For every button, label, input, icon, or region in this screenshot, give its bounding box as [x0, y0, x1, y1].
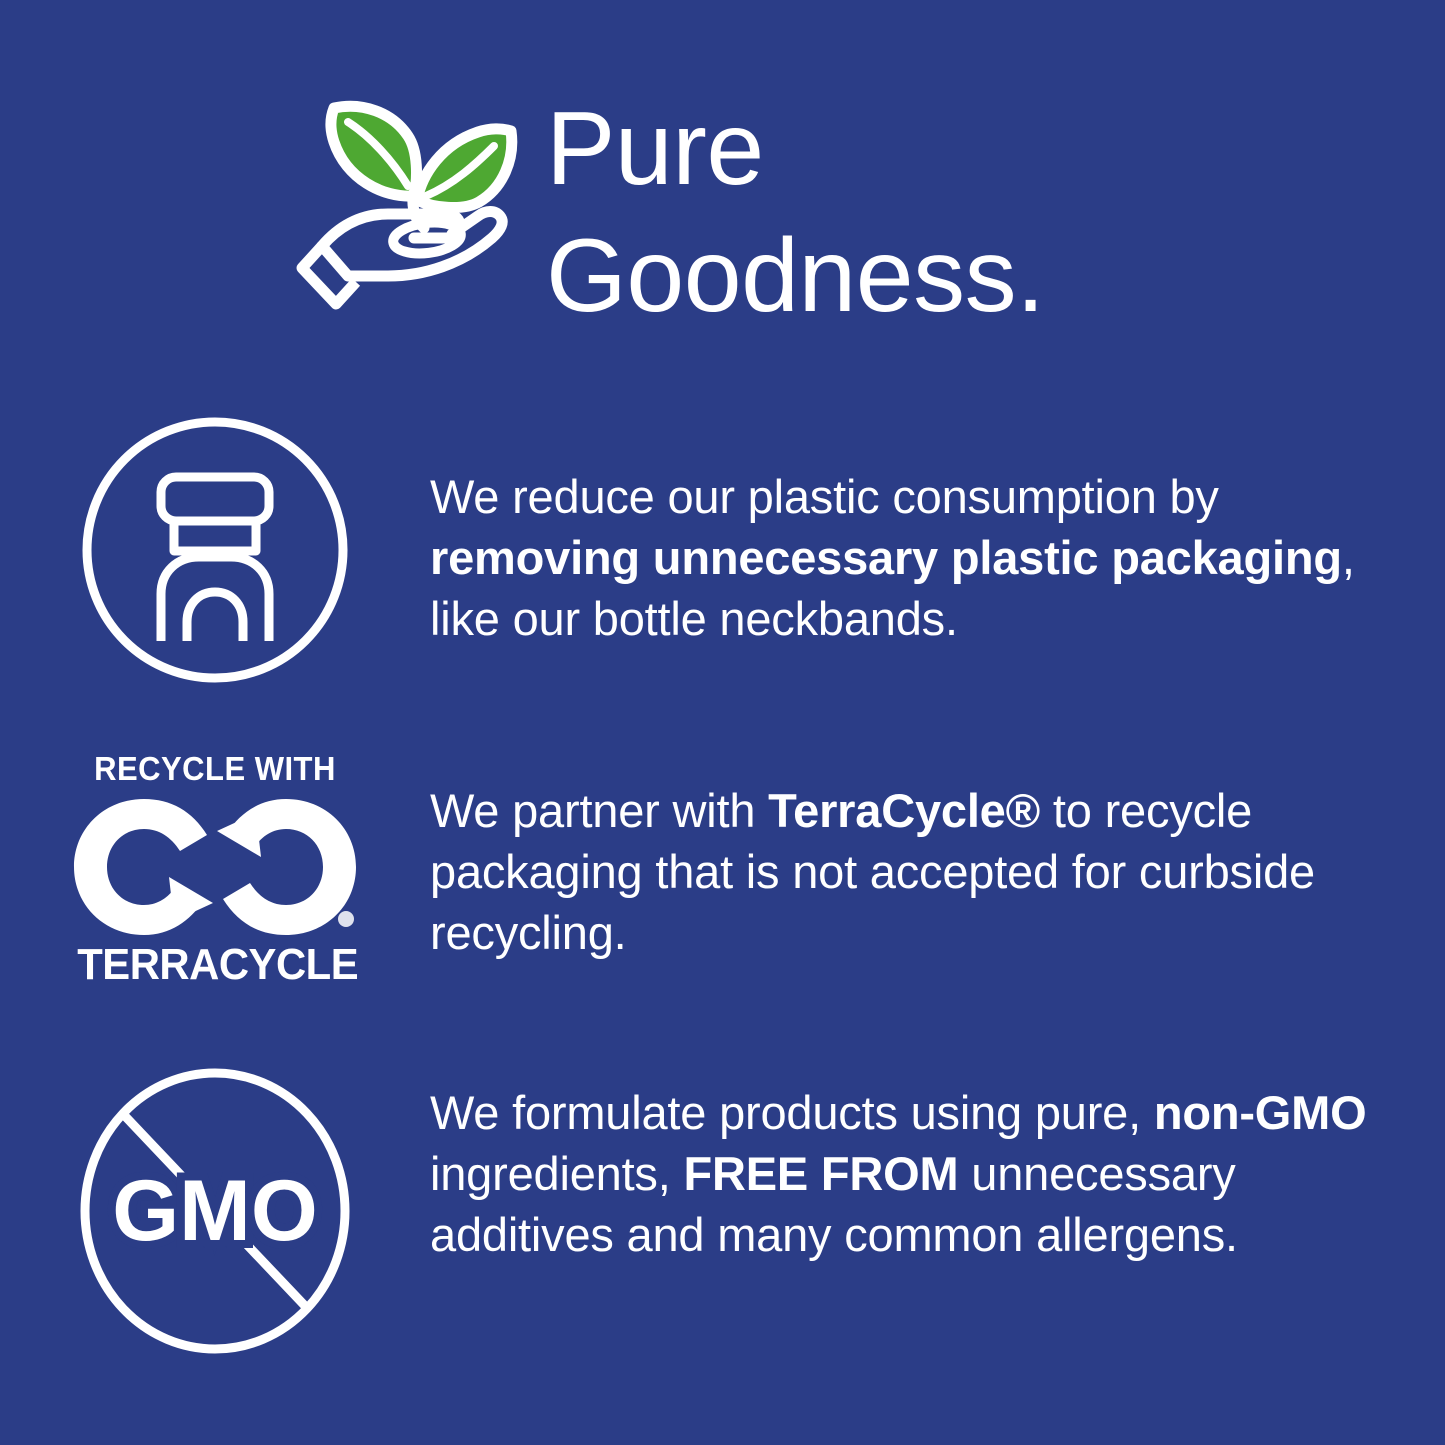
bottle-neckband-circle-icon	[0, 414, 430, 686]
body-text: ingredients,	[430, 1147, 683, 1200]
pure-goodness-poster: Pure Goodness. We reduce our plastic con…	[0, 0, 1445, 1445]
emphasis-text: removing unnecessary plastic packaging	[430, 531, 1342, 584]
emphasis-text: FREE FROM	[683, 1147, 958, 1200]
infinity-recycle-mark-icon	[70, 791, 360, 941]
feature-row-terracycle: RECYCLE WITH TERRACYCL	[0, 752, 1445, 987]
feature-text-plastic: We reduce our plastic consumption by rem…	[430, 414, 1445, 649]
feature-text-terracycle: We partner with TerraCycle® to recycle p…	[430, 752, 1445, 963]
hand-holding-sprout-icon	[296, 78, 528, 310]
body-text: We reduce our plastic consumption by	[430, 470, 1219, 523]
body-text: We partner with	[430, 784, 768, 837]
poster-header: Pure Goodness.	[296, 72, 1306, 340]
feature-row-plastic: We reduce our plastic consumption by rem…	[0, 414, 1445, 686]
feature-row-gmo: GMO We formulate products using pure, no…	[0, 1068, 1445, 1354]
no-gmo-icon: GMO	[0, 1068, 430, 1354]
terracycle-top-label: RECYCLE WITH	[79, 752, 352, 785]
gmo-label: GMO	[112, 1163, 317, 1259]
page-title: Pure Goodness.	[546, 72, 1045, 340]
feature-text-gmo: We formulate products using pure, non-GM…	[430, 1068, 1445, 1265]
body-text: We formulate products using pure,	[430, 1086, 1154, 1139]
terracycle-logo: RECYCLE WITH TERRACYCL	[0, 752, 430, 987]
emphasis-text: non-GMO	[1154, 1086, 1367, 1139]
emphasis-text: TerraCycle®	[768, 784, 1040, 837]
terracycle-bottom-label: TERRACYCLE	[77, 943, 353, 987]
